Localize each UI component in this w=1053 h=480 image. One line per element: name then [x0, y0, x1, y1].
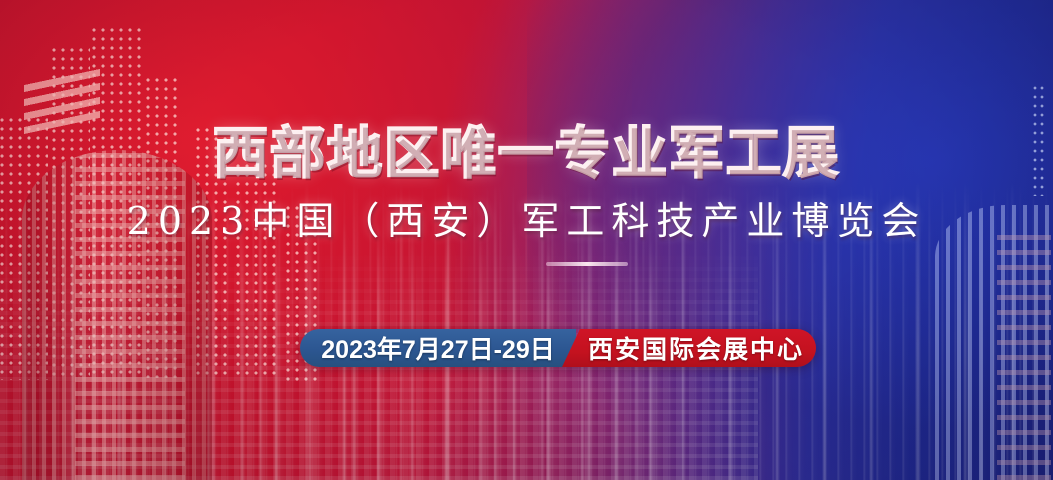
banner-subtitle: 2023中国（西安）军工科技产业博览会	[0, 200, 1053, 244]
event-date: 2023年7月27日-29日	[300, 329, 576, 367]
event-venue: 西安国际会展中心	[576, 329, 816, 367]
event-banner: 西部地区唯一专业军工展 2023中国（西安）军工科技产业博览会 2023年7月2…	[0, 0, 1053, 480]
banner-headline: 西部地区唯一专业军工展	[0, 126, 1053, 181]
ornamental-rule	[546, 262, 628, 266]
banner-content: 西部地区唯一专业军工展 2023中国（西安）军工科技产业博览会 2023年7月2…	[0, 0, 1053, 480]
event-info-pill: 2023年7月27日-29日 西安国际会展中心	[300, 329, 816, 367]
